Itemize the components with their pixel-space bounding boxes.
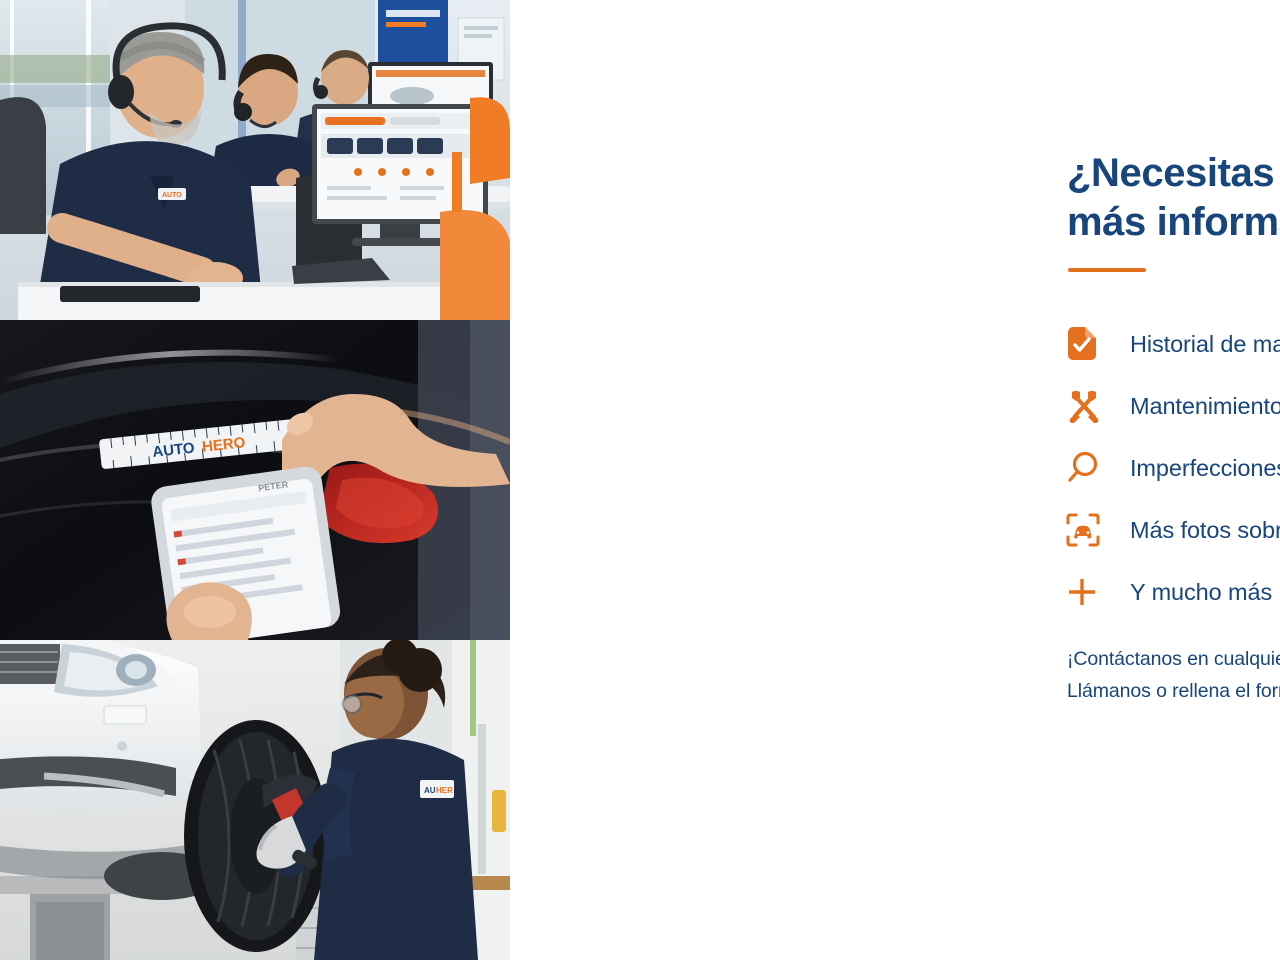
feature-item-more-photos: Más fotos sobre el coche: [1066, 499, 1280, 561]
feature-item-maintenance-done: Mantenimiento realizado: [1066, 375, 1280, 437]
car-frame-icon: [1066, 513, 1118, 547]
workshop-wheel-photo: AU HER: [0, 640, 510, 960]
title-underline-rule: [1068, 268, 1146, 272]
marketing-card: AUTO: [0, 0, 1280, 960]
feature-item-maintenance-history: Historial de mantenimientos: [1066, 313, 1280, 375]
feature-label: Historial de mantenimientos: [1118, 331, 1280, 358]
contact-text: ¡Contáctanos en cualquier momento para m…: [1067, 644, 1280, 707]
feature-label: Mantenimiento realizado: [1118, 393, 1280, 420]
photo-column: AUTO: [0, 0, 510, 960]
feature-item-imperfections: Imperfecciones: [1066, 437, 1280, 499]
content-panel: ¿Necesitas más información? Historial de…: [510, 0, 1280, 960]
feature-label: Más fotos sobre el coche: [1118, 517, 1280, 544]
headline-line-2: más información?: [1067, 198, 1280, 247]
feature-label: Imperfecciones: [1118, 455, 1280, 482]
contact-line-1: ¡Contáctanos en cualquier momento para m…: [1067, 644, 1280, 676]
page-title: ¿Necesitas más información?: [1067, 149, 1280, 247]
tools-icon: [1066, 389, 1118, 423]
feature-label: Y mucho más: [1118, 579, 1272, 606]
headline-line-1: ¿Necesitas: [1067, 151, 1274, 195]
svg-text:HER: HER: [436, 786, 453, 795]
svg-text:AUTO: AUTO: [162, 192, 182, 199]
document-check-icon: [1066, 327, 1118, 361]
feature-item-much-more: Y mucho más: [1066, 561, 1280, 623]
feature-list: Historial de mantenimientos M: [1066, 313, 1280, 623]
svg-text:AU: AU: [424, 786, 436, 795]
contact-line-2: Llámanos o rellena el formulario de cont…: [1067, 676, 1280, 708]
car-inspection-ruler-photo: AUTO HERO: [0, 320, 510, 640]
plus-icon: [1066, 576, 1118, 608]
call-center-agents-photo: AUTO: [0, 0, 510, 320]
magnifier-icon: [1066, 451, 1118, 485]
